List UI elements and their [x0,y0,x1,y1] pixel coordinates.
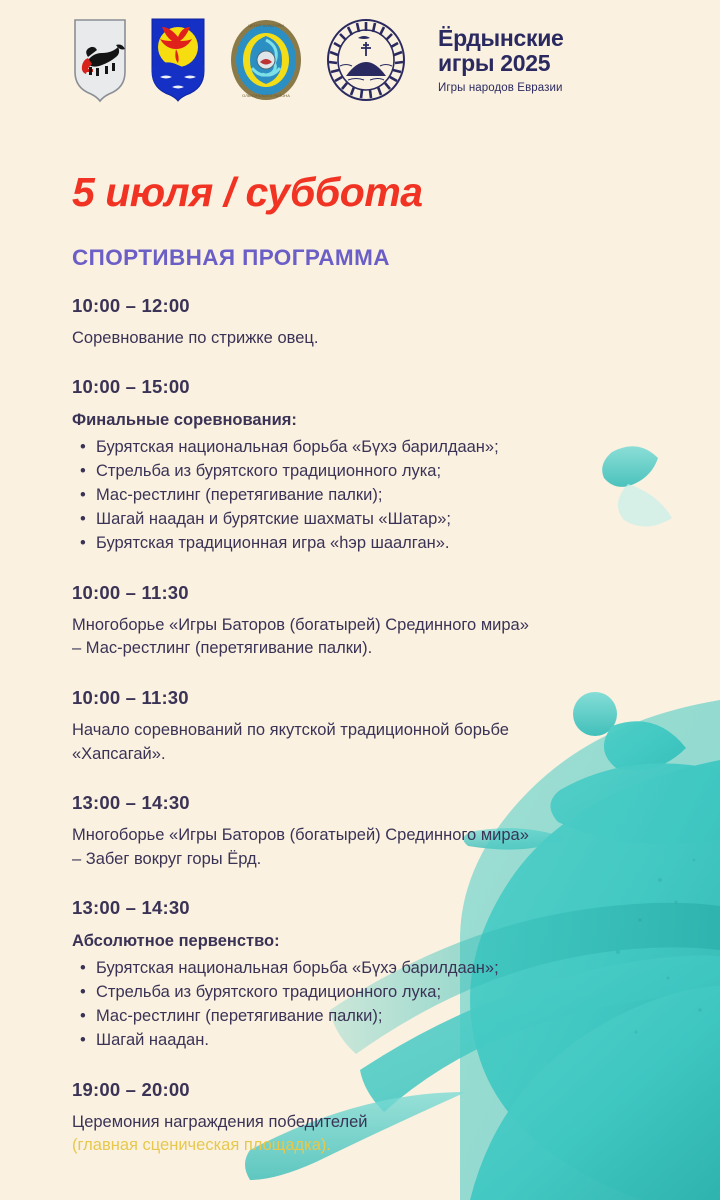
entry-time: 10:00 – 15:00 [72,377,720,397]
entry-description: Начало соревнований по якутской традицио… [72,719,542,766]
schedule-entry: 19:00 – 20:00Церемония награждения побед… [72,1080,720,1158]
entry-time: 10:00 – 11:30 [72,688,720,708]
entry-description: Многоборье «Игры Баторов (богатырей) Сре… [72,824,542,871]
list-item: Мас-рестлинг (перетягивание палки); [72,484,720,508]
entry-bullet-list: Бурятская национальная борьба «Бүхэ бари… [72,957,720,1053]
entry-lead: Абсолютное первенство: [72,930,542,953]
entry-time: 10:00 – 12:00 [72,296,720,316]
schedule-entry: 10:00 – 15:00Финальные соревнования:Буря… [72,377,720,555]
entry-bullet-list: Бурятская национальная борьба «Бүхэ бари… [72,436,720,556]
day-title: 5 июля / суббота [72,172,720,213]
schedule-content: 5 июля / суббота СПОРТИВНАЯ ПРОГРАММА 10… [0,120,720,1158]
list-item: Бурятская традиционная игра «һэр шаалган… [72,532,720,556]
irkutsk-oblast-coat-of-arms-icon [72,17,128,103]
entry-time: 19:00 – 20:00 [72,1080,720,1100]
program-section-title: СПОРТИВНАЯ ПРОГРАММА [72,247,720,270]
entry-time: 13:00 – 14:30 [72,898,720,918]
list-item: Бурятская национальная борьба «Бүхэ бари… [72,957,720,981]
svg-text:ОЛЬХОНСКОГО РАЙОНА: ОЛЬХОНСКОГО РАЙОНА [242,93,290,98]
entry-time: 10:00 – 11:30 [72,583,720,603]
entry-time: 13:00 – 14:30 [72,793,720,813]
schedule-entry: 13:00 – 14:30Абсолютное первенство:Бурят… [72,898,720,1052]
brand-subtitle: Игры народов Евразии [438,82,564,94]
entry-description: Церемония награждения победителей [72,1111,542,1134]
brand-lockup: Ёрдынские игры 2025 Игры народов Евразии [438,26,564,94]
entry-lead: Финальные соревнования: [72,409,542,432]
entry-description: Многоборье «Игры Баторов (богатырей) Сре… [72,614,542,661]
schedule-entry: 10:00 – 12:00Соревнование по стрижке ове… [72,296,720,351]
list-item: Шагай наадан. [72,1029,720,1053]
entry-description: Соревнование по стрижке овец. [72,327,542,350]
cultural-center-emblem-icon: ЦЕНТР КУЛЬТУРЫ ОЛЬХОНСКОГО РАЙОНА [228,18,304,102]
schedule-entry: 10:00 – 11:30Начало соревнований по якут… [72,688,720,766]
list-item: Шагай наадан и бурятские шахматы «Шатар»… [72,508,720,532]
list-item: Стрельба из бурятского традиционного лук… [72,460,720,484]
schedule-entry: 10:00 – 11:30Многоборье «Игры Баторов (б… [72,583,720,661]
svg-text:ЦЕНТР КУЛЬТУРЫ: ЦЕНТР КУЛЬТУРЫ [248,23,284,28]
entry-description-accent: (главная сценическая площадка). [72,1134,542,1157]
schedule-entry-list: 10:00 – 12:00Соревнование по стрижке ове… [72,296,720,1158]
brand-title-line-1: Ёрдынские [438,26,564,51]
olkhonsky-district-coat-of-arms-icon [150,17,206,103]
yordyn-games-emblem-icon [326,18,406,102]
list-item: Бурятская национальная борьба «Бүхэ бари… [72,436,720,460]
list-item: Мас-рестлинг (перетягивание палки); [72,1005,720,1029]
schedule-entry: 13:00 – 14:30Многоборье «Игры Баторов (б… [72,793,720,871]
list-item: Стрельба из бурятского традиционного лук… [72,981,720,1005]
page-header: ЦЕНТР КУЛЬТУРЫ ОЛЬХОНСКОГО РАЙОНА [0,0,720,120]
brand-title-line-2: игры 2025 [438,51,564,76]
